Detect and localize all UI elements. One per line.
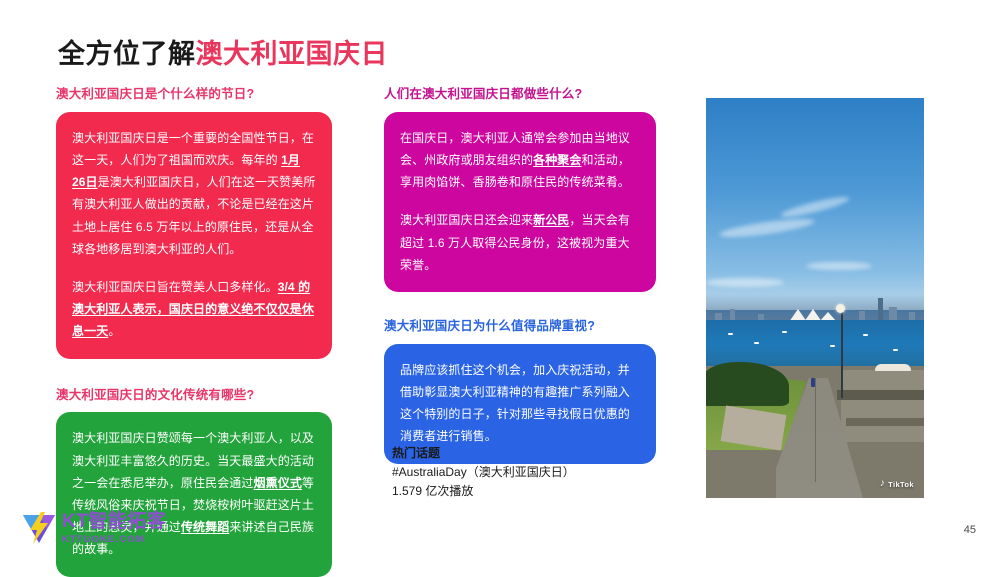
photo-umbrella [875, 364, 911, 371]
text-segment-emphasis: 新公民 [533, 213, 569, 227]
card-cultural-traditions: 澳大利亚国庆日赞颂每一个澳大利亚人，以及澳大利亚丰富悠久的历史。当天最盛大的活动… [56, 412, 332, 576]
logo-name: KT智能拓客 [62, 512, 166, 531]
photo-boat [830, 345, 835, 347]
photo-boat [863, 334, 868, 336]
page-title: 全方位了解澳大利亚国庆日 [58, 32, 388, 71]
card-paragraph: 澳大利亚国庆日是一个重要的全国性节日，在这一天，人们为了祖国而欢庆。每年的 1月… [72, 127, 316, 260]
logo-bolt-icon [22, 512, 56, 544]
logo-text: KT智能拓客 KTTUOKE.COM [62, 512, 166, 545]
page-title-accent: 澳大利亚国庆日 [196, 39, 389, 69]
photo-harbour-water [706, 320, 924, 368]
text-segment: 是澳大利亚国庆日，人们在这一天赞美所有澳大利亚人做出的贡献，不论是已经在这片土地… [72, 175, 315, 256]
photo-boat [728, 333, 733, 335]
photo-wharf [841, 370, 924, 442]
photo-lamp-globe [836, 304, 845, 313]
hot-topic-label: 热门话题 [392, 444, 592, 463]
hot-topic-text: #AustraliaDay（澳大利亚国庆日）1.579 亿次播放 [392, 463, 592, 501]
photo-cloud [806, 262, 871, 270]
photo-tower [878, 298, 883, 322]
sydney-harbour-photo: ♪ TikTok [706, 98, 924, 498]
brand-logo: KT智能拓客 KTTUOKE.COM [22, 512, 166, 545]
card-what-people-do: 在国庆日，澳大利亚人通常会参加由当地议会、州政府或朋友组织的各种聚会和活动，享用… [384, 112, 656, 292]
card-what-is-it: 澳大利亚国庆日是一个重要的全国性节日，在这一天，人们为了祖国而欢庆。每年的 1月… [56, 112, 332, 359]
text-segment-emphasis: 传统舞蹈 [181, 520, 229, 534]
card-paragraph: 品牌应该抓住这个机会，加入庆祝活动，并借助彰显澳大利亚精神的有趣推广系列融入这个… [400, 359, 640, 448]
music-note-icon: ♪ [880, 479, 885, 489]
slide-root: 全方位了解澳大利亚国庆日 澳大利亚国庆日是个什么样的节日? 澳大利亚国庆日是一个… [0, 0, 1000, 562]
tiktok-watermark-label: TikTok [888, 480, 914, 489]
page-number: 45 [964, 524, 976, 536]
text-segment: 澳大利亚国庆日是一个重要的全国性节日，在这一天，人们为了祖国而欢庆。每年的 [72, 131, 314, 167]
hot-topic-block: 热门话题 #AustraliaDay（澳大利亚国庆日）1.579 亿次播放 [392, 444, 592, 502]
middle-column: 人们在澳大利亚国庆日都做些什么? 在国庆日，澳大利亚人通常会参加由当地议会、州政… [384, 86, 656, 464]
text-segment: 。 [108, 324, 120, 338]
card-paragraph: 在国庆日，澳大利亚人通常会参加由当地议会、州政府或朋友组织的各种聚会和活动，享用… [400, 127, 640, 194]
text-segment-emphasis: 烟熏仪式 [254, 476, 302, 490]
text-segment-emphasis: 各种聚会 [533, 153, 581, 167]
text-segment: 澳大利亚国庆日还会迎来 [400, 213, 533, 227]
photo-wharf-rail [846, 418, 924, 426]
page-title-plain: 全方位了解 [58, 39, 196, 69]
photo-cloud [706, 278, 784, 287]
photo-path-seam [815, 378, 816, 482]
left-column: 澳大利亚国庆日是个什么样的节日? 澳大利亚国庆日是一个重要的全国性节日，在这一天… [56, 86, 332, 577]
section-heading-what-people-do: 人们在澳大利亚国庆日都做些什么? [384, 86, 656, 103]
photo-pedestrian [811, 378, 815, 387]
photo-boat [782, 331, 787, 333]
card-paragraph: 澳大利亚国庆日还会迎来新公民，当天会有超过 1.6 万人取得公民身份，这被视为重… [400, 209, 640, 276]
section-heading-why-brands-care: 澳大利亚国庆日为什么值得品牌重视? [384, 318, 656, 335]
photo-boat [893, 349, 898, 351]
photo-lamp-post [841, 310, 843, 398]
photo-wharf-rail [837, 390, 924, 400]
section-heading-what-is-it: 澳大利亚国庆日是个什么样的节日? [56, 86, 332, 103]
text-segment: 澳大利亚国庆日旨在赞美人口多样化。 [72, 280, 278, 294]
card-paragraph: 澳大利亚国庆日旨在赞美人口多样化。3/4 的澳大利亚人表示，国庆日的意义绝不仅仅… [72, 276, 316, 343]
section-heading-cultural-traditions: 澳大利亚国庆日的文化传统有哪些? [56, 387, 332, 404]
photo-skyline [706, 294, 924, 322]
tiktok-watermark: ♪ TikTok [880, 479, 914, 489]
logo-url: KTTUOKE.COM [62, 535, 166, 545]
photo-boat [754, 342, 759, 344]
